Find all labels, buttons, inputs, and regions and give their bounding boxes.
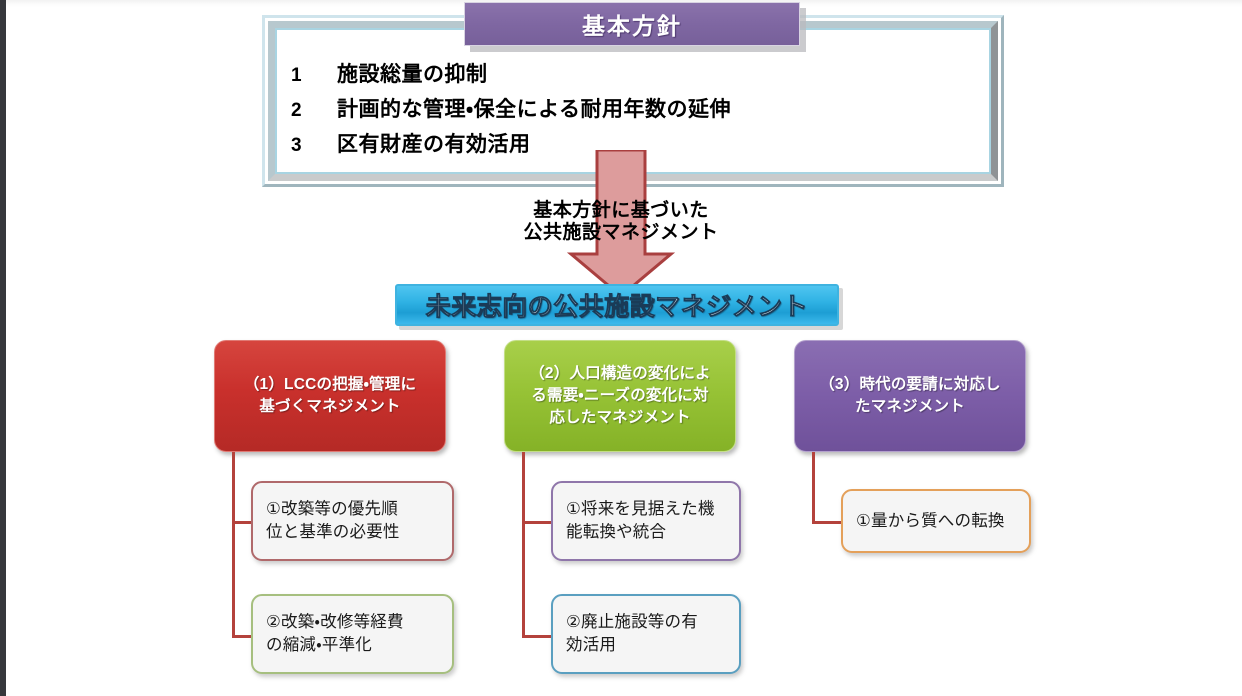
diagram-canvas: 1 施設総量の抑制 2 計画的な管理・保全による耐用年数の延伸 3 区有財産の有… <box>0 0 1242 696</box>
policy-item: 2 計画的な管理・保全による耐用年数の延伸 <box>291 93 951 123</box>
leaf-label: ②廃止施設等の有効活用 <box>566 611 698 657</box>
policy-text: 計画的な管理・保全による耐用年数の延伸 <box>337 93 731 123</box>
connector-trunk-column-3 <box>812 452 815 524</box>
policy-list: 1 施設総量の抑制 2 計画的な管理・保全による耐用年数の延伸 3 区有財産の有… <box>291 58 951 163</box>
pillar-box-era-demands[interactable]: （3）時代の要請に対応したマネジメント <box>794 340 1026 452</box>
banner-label: 未来志向の公共施設マネジメント <box>426 287 809 323</box>
connector-branch-column-2-leaf-2 <box>522 635 552 638</box>
leaf-box-cost-reduction[interactable]: ②改築・改修等経費の縮減・平準化 <box>251 594 454 674</box>
leaf-label: ②改築・改修等経費の縮減・平準化 <box>266 611 404 657</box>
leaf-label: ①改築等の優先順位と基準の必要性 <box>266 498 400 544</box>
pillar-label: （3）時代の要請に対応したマネジメント <box>819 374 1001 418</box>
connector-trunk-column-1 <box>232 452 235 638</box>
down-arrow-icon <box>565 150 677 298</box>
basic-policy-header-chip: 基本方針 <box>464 2 800 46</box>
connector-trunk-column-2 <box>522 452 525 638</box>
pillar-box-lcc[interactable]: （1）LCCの把握・管理に基づくマネジメント <box>214 340 446 452</box>
leaf-box-abolished-facilities[interactable]: ②廃止施設等の有効活用 <box>551 594 741 674</box>
connector-branch-column-3-leaf-1 <box>812 521 842 524</box>
window-left-edge <box>0 0 6 696</box>
leaf-box-function-conversion[interactable]: ①将来を見据えた機能転換や統合 <box>551 481 741 561</box>
pillar-label: （1）LCCの把握・管理に基づくマネジメント <box>244 374 416 418</box>
policy-item: 1 施設総量の抑制 <box>291 58 951 88</box>
leaf-label: ①量から質への転換 <box>856 510 1005 533</box>
policy-number: 2 <box>291 100 337 122</box>
leaf-box-quantity-to-quality[interactable]: ①量から質への転換 <box>841 489 1031 553</box>
header-chip-label: 基本方針 <box>582 7 682 41</box>
connector-branch-column-2-leaf-1 <box>522 521 552 524</box>
pillar-box-demographics[interactable]: （2）人口構造の変化による需要・ニーズの変化に対応したマネジメント <box>504 340 736 452</box>
leaf-box-priority-criteria[interactable]: ①改築等の優先順位と基準の必要性 <box>251 481 454 561</box>
policy-text: 施設総量の抑制 <box>337 58 488 88</box>
leaf-label: ①将来を見据えた機能転換や統合 <box>566 498 715 544</box>
policy-text: 区有財産の有効活用 <box>337 128 531 158</box>
pillar-label: （2）人口構造の変化による需要・ニーズの変化に対応したマネジメント <box>529 363 711 429</box>
future-oriented-banner: 未来志向の公共施設マネジメント <box>395 284 839 326</box>
policy-number: 1 <box>291 65 337 87</box>
policy-number: 3 <box>291 135 337 157</box>
